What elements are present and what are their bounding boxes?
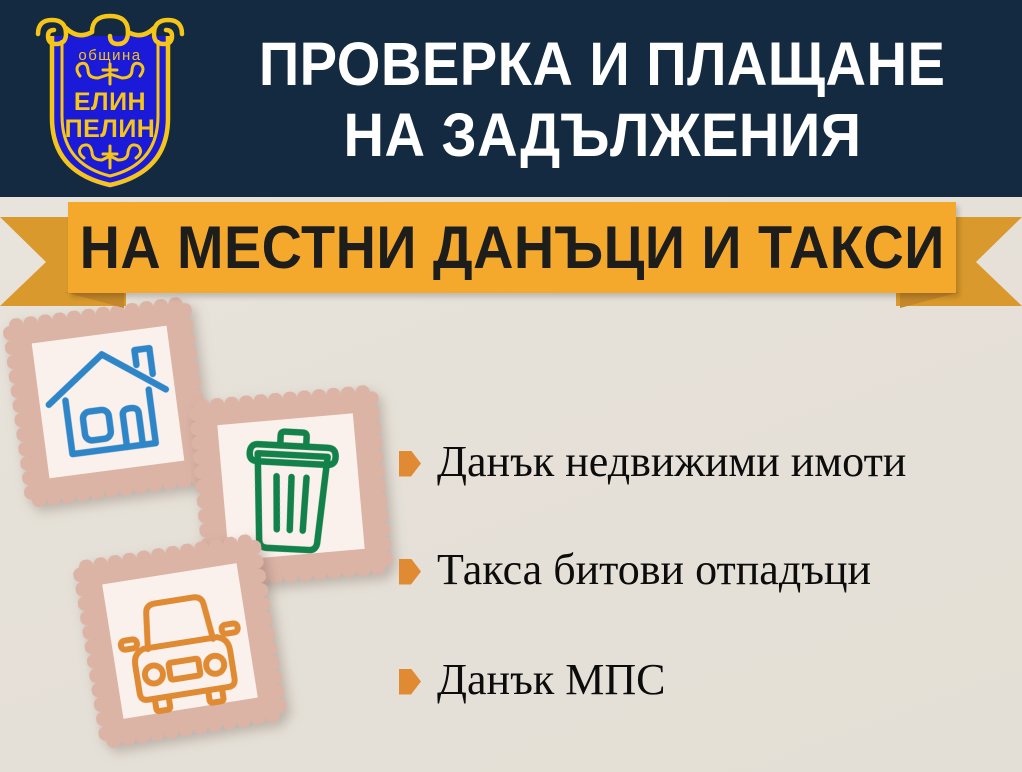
list-item: Данък МПС	[399, 652, 665, 708]
ribbon-main-bar: НА МЕСТНИ ДАНЪЦИ И ТАКСИ	[68, 202, 956, 293]
crest-name-line2: ПЕЛИН	[65, 115, 156, 143]
ribbon-subtitle: НА МЕСТНИ ДАНЪЦИ И ТАКСИ	[79, 218, 944, 278]
arrow-bullet-icon	[399, 669, 421, 695]
list-item: Такса битови отпадъци	[399, 542, 871, 598]
page-title-line-2: НА ЗАДЪЛЖЕНИЯ	[343, 100, 861, 171]
list-item-label: Такса битови отпадъци	[437, 546, 871, 594]
coat-of-arms-shield-icon: община ЕЛИН ПЕЛИН	[30, 6, 190, 192]
crest-top-text: община	[78, 47, 141, 64]
ribbon-banner: НА МЕСТНИ ДАНЪЦИ И ТАКСИ	[0, 196, 1022, 308]
list-item: Данък недвижими имоти	[399, 434, 906, 490]
stamp-card-property	[1, 295, 214, 508]
list-item-label: Данък МПС	[437, 656, 665, 704]
stamp-icon-group	[0, 296, 420, 772]
arrow-bullet-icon	[399, 451, 421, 477]
tax-types-list: Данък недвижими имоти Такса битови отпад…	[399, 420, 1019, 720]
page-title-line-1: ПРОВЕРКА И ПЛАЩАНЕ	[259, 29, 946, 100]
page-title: ПРОВЕРКА И ПЛАЩАНЕ НА ЗАДЪЛЖЕНИЯ	[196, 16, 1008, 184]
arrow-bullet-icon	[399, 559, 421, 585]
stamp-card-vehicle	[71, 532, 288, 749]
crest-name-line1: ЕЛИН	[74, 88, 146, 116]
list-item-label: Данък недвижими имоти	[437, 438, 906, 486]
poster-canvas: община ЕЛИН ПЕЛИН ПРОВЕРКА И ПЛАЩАНЕ НА …	[0, 0, 1022, 772]
